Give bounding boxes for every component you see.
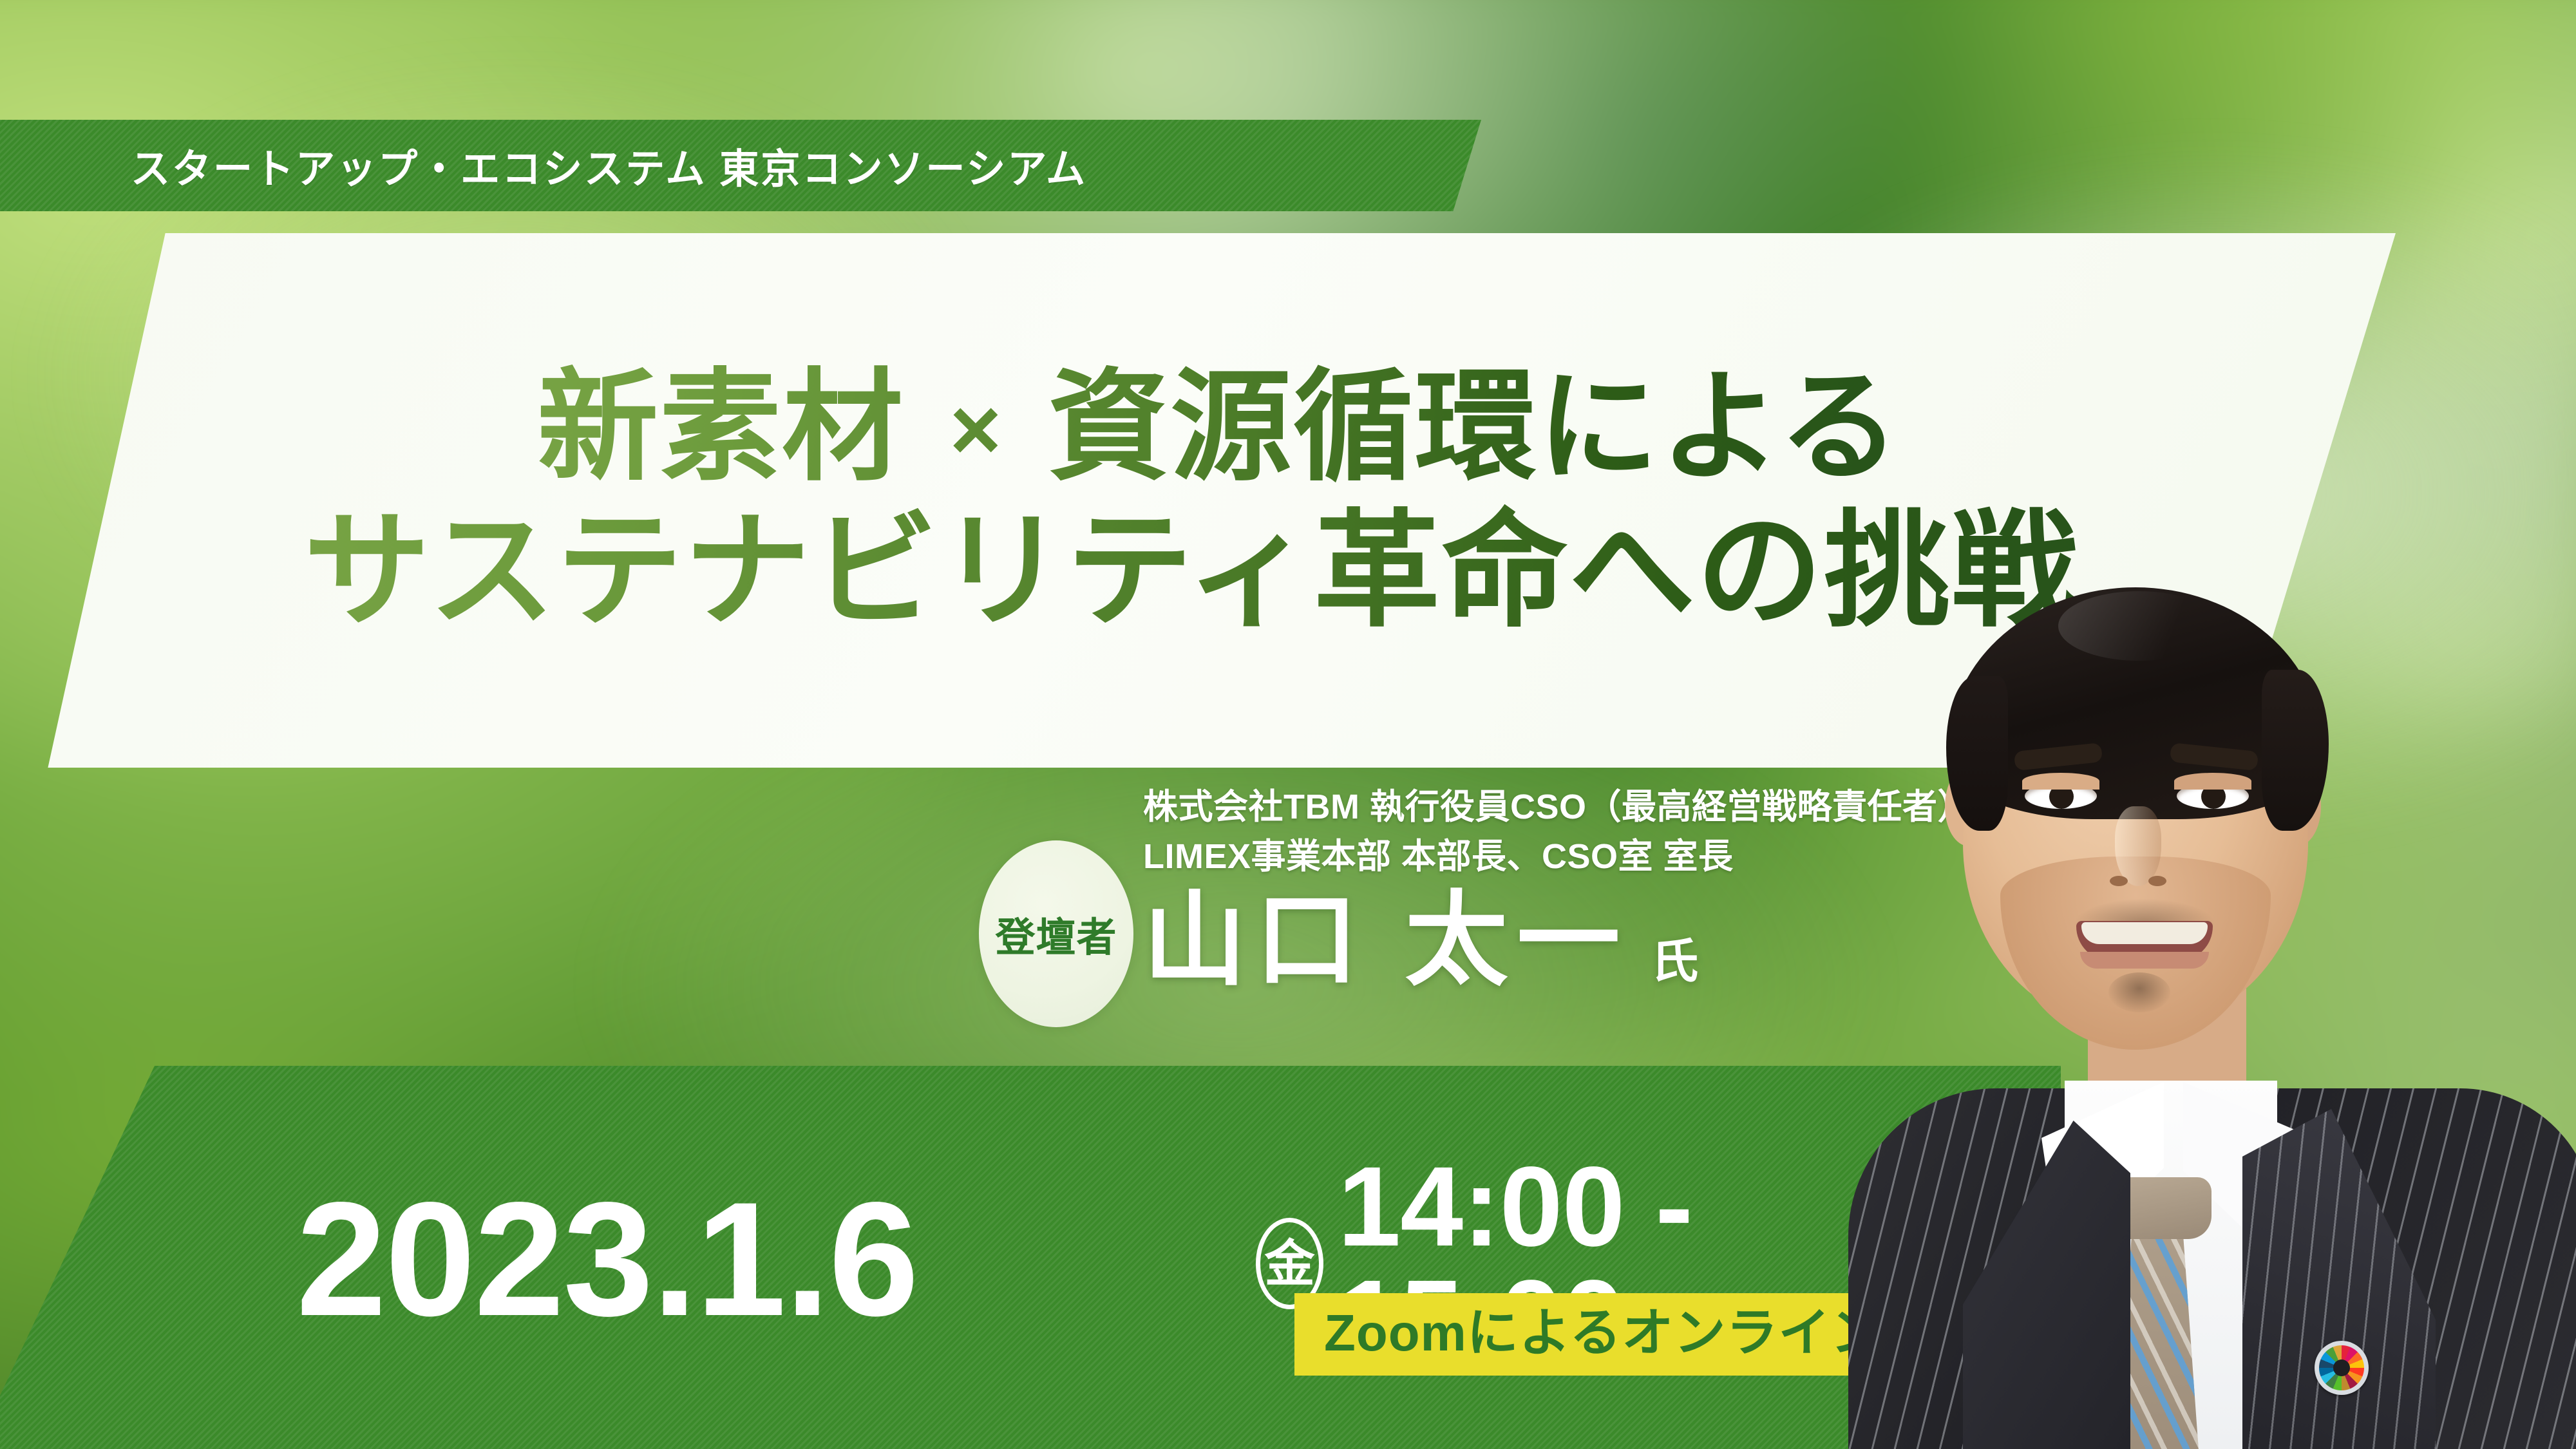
nostril-left [2110,876,2128,886]
lower-lip [2080,952,2209,969]
nose [2115,806,2161,886]
eyelid-left [2022,773,2099,790]
title-segment-resource-circulation: 資源循環による [1048,359,1900,495]
chin-stubble [2108,972,2170,1012]
title-line-2: サステナビリティ革命への挑戦 [304,504,2079,639]
speaker-badge-label: 登壇者 [995,905,1117,963]
speaker-name: 山口 太一 [1143,889,1629,992]
sdgs-colorwheel-icon [2319,1345,2364,1390]
multiplication-sign-icon: × [940,380,1014,479]
hair-highlight [2058,591,2219,661]
eyelid-right [2174,773,2251,790]
speaker-name-row: 山口 太一 氏 [1143,889,1698,992]
event-date: 2023.1.6 [296,1179,918,1341]
nostril-right [2148,876,2166,886]
organization-name: スタートアップ・エコシステム 東京コンソーシアム [131,137,1087,195]
event-details-group: 2023.1.6 金 14:00 - 15:00 Zoomによるオンライン開催 [296,1095,1906,1449]
weekday-label: 金 [1265,1238,1315,1289]
header-band: スタートアップ・エコシステム 東京コンソーシアム [0,120,1481,211]
sdgs-wheel-center [2333,1359,2350,1376]
title-line-1: 新素材 × 資源循環による [537,363,1900,492]
teeth [2081,922,2208,944]
sdgs-lapel-pin-icon [2315,1341,2369,1395]
speaker-badge: 登壇者 [979,840,1133,1027]
webinar-banner: スタートアップ・エコシステム 東京コンソーシアム 新素材 × 資源循環による サ… [0,0,2576,1449]
title-segment-new-material: 新素材 [537,359,904,495]
speaker-honorific: 氏 [1651,938,1698,992]
speaker-block: 登壇者 株式会社TBM 執行役員CSO（最高経営戦略責任者） LIMEX事業本部… [979,782,1945,1059]
speaker-photo [1848,554,2576,1449]
